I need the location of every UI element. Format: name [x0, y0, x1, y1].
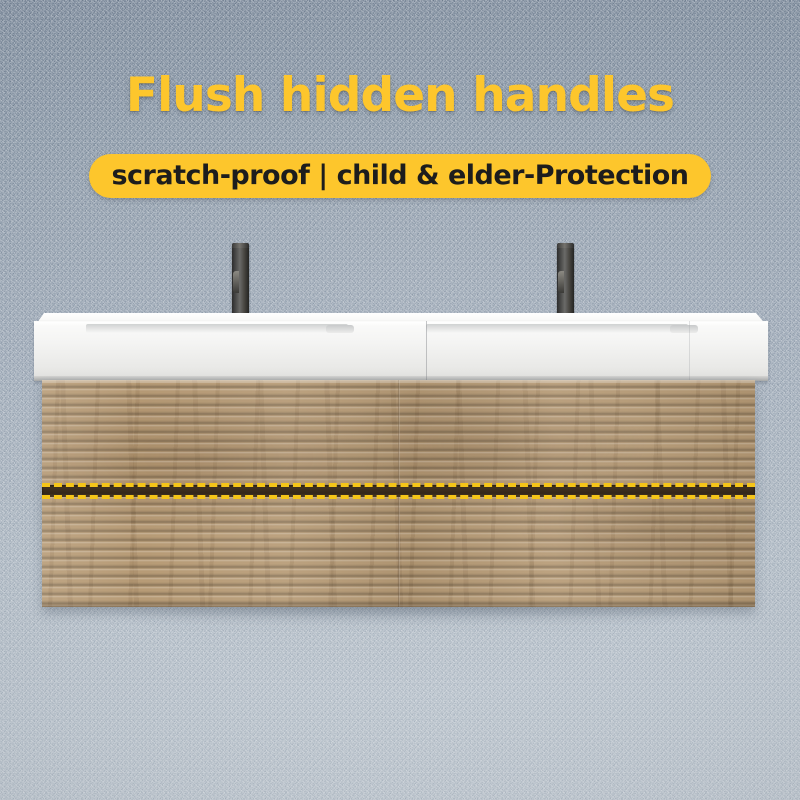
- banner-canvas: Flush hidden handles scratch-proof | chi…: [0, 0, 800, 800]
- feature-badge: scratch-proof | child & elder-Protection: [89, 154, 710, 198]
- headline-text: Flush hidden handles: [0, 70, 800, 122]
- badge-row: scratch-proof | child & elder-Protection: [0, 154, 800, 198]
